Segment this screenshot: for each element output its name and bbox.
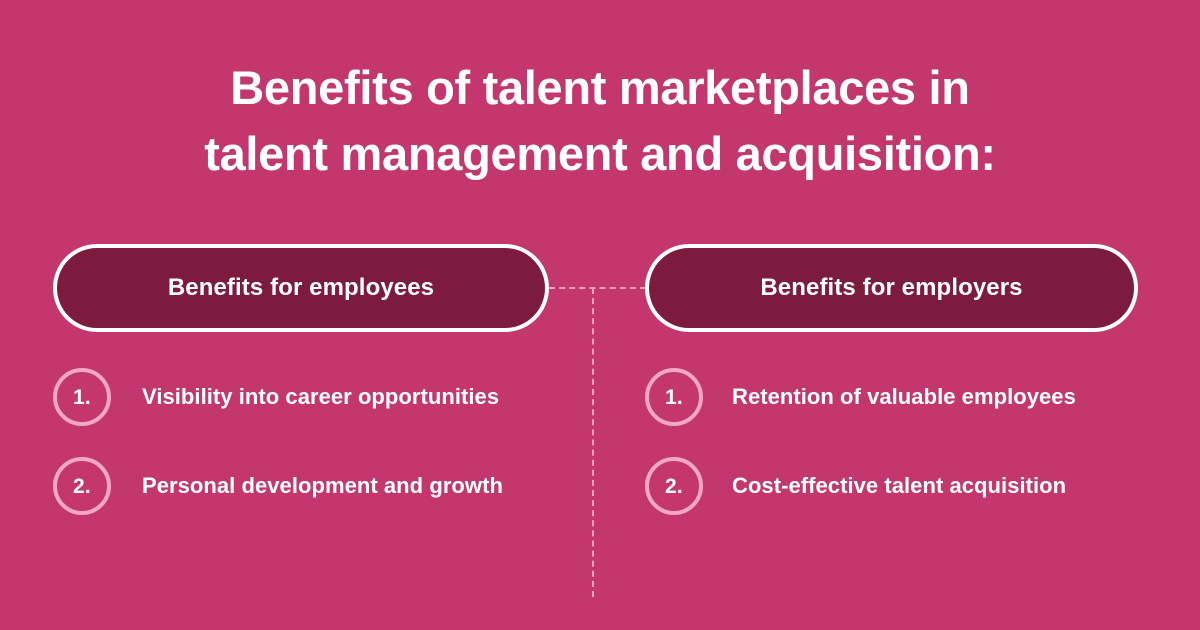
list-item-label: Retention of valuable employees bbox=[732, 384, 1076, 410]
page-title-line-2: talent management and acquisition: bbox=[0, 121, 1200, 187]
infographic-canvas: Benefits of talent marketplaces in talen… bbox=[0, 0, 1200, 630]
list-item-label: Visibility into career opportunities bbox=[142, 384, 499, 410]
connector-horizontal-dashed-line bbox=[549, 287, 646, 289]
heading-pill-employees[interactable]: Benefits for employees bbox=[53, 244, 549, 332]
number-badge-icon: 1. bbox=[645, 368, 703, 426]
list-item: 2. Cost-effective talent acquisition bbox=[645, 457, 1138, 515]
list-item: 1. Retention of valuable employees bbox=[645, 368, 1138, 426]
number-badge-icon: 2. bbox=[53, 457, 111, 515]
benefits-list-employees: 1. Visibility into career opportunities … bbox=[53, 368, 549, 515]
list-item-label: Personal development and growth bbox=[142, 473, 503, 499]
page-title-line-1: Benefits of talent marketplaces in bbox=[0, 55, 1200, 121]
number-badge-label: 2. bbox=[73, 476, 91, 497]
column-employees: Benefits for employees 1. Visibility int… bbox=[53, 244, 549, 515]
list-item: 1. Visibility into career opportunities bbox=[53, 368, 549, 426]
number-badge-label: 1. bbox=[73, 387, 91, 408]
number-badge-label: 1. bbox=[665, 387, 683, 408]
connector-vertical-dashed-line bbox=[592, 288, 594, 597]
page-title: Benefits of talent marketplaces in talen… bbox=[0, 55, 1200, 187]
number-badge-label: 2. bbox=[665, 476, 683, 497]
list-item: 2. Personal development and growth bbox=[53, 457, 549, 515]
column-employers: Benefits for employers 1. Retention of v… bbox=[645, 244, 1138, 515]
benefits-list-employers: 1. Retention of valuable employees 2. Co… bbox=[645, 368, 1138, 515]
heading-pill-employees-label: Benefits for employees bbox=[168, 274, 434, 302]
number-badge-icon: 2. bbox=[645, 457, 703, 515]
heading-pill-employers[interactable]: Benefits for employers bbox=[645, 244, 1138, 332]
number-badge-icon: 1. bbox=[53, 368, 111, 426]
heading-pill-employers-label: Benefits for employers bbox=[760, 274, 1022, 302]
list-item-label: Cost-effective talent acquisition bbox=[732, 473, 1066, 499]
